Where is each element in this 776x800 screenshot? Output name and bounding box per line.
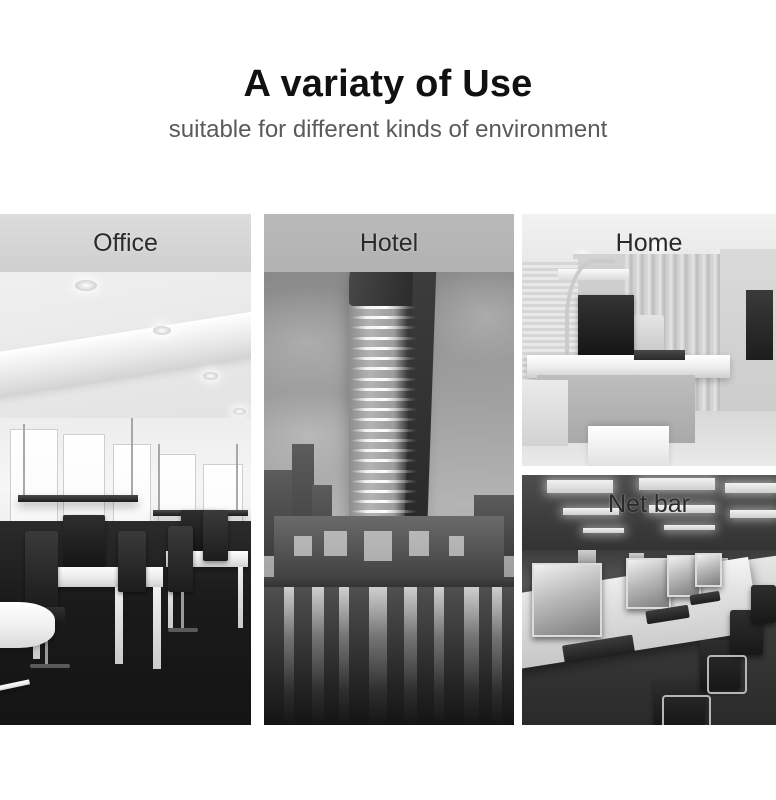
tower-balcony xyxy=(352,306,417,309)
tower-balcony xyxy=(352,449,417,452)
light-reflection xyxy=(369,587,387,725)
tower-balcony xyxy=(352,347,417,350)
tower-balcony xyxy=(352,500,417,503)
tower-balcony xyxy=(352,459,417,462)
office-desk-leg xyxy=(153,587,161,669)
home-bench xyxy=(588,426,669,466)
water-surface xyxy=(264,587,514,725)
office-chair-base xyxy=(168,628,198,632)
office-chair xyxy=(118,531,146,592)
light-reflection xyxy=(434,587,444,725)
gallery-panel-hotel[interactable]: Hotel xyxy=(264,214,514,725)
office-monitor xyxy=(63,515,106,566)
light-reflection xyxy=(464,587,479,725)
podium-window xyxy=(409,531,429,557)
use-case-gallery: Office xyxy=(0,214,776,725)
page-header: A variaty of Use suitable for different … xyxy=(0,0,776,145)
office-scene-image xyxy=(0,214,251,725)
home-cabinet xyxy=(522,380,568,446)
tower-balcony xyxy=(352,439,417,442)
light-reflection xyxy=(339,587,349,725)
hotel-scene-image xyxy=(264,214,514,725)
tower-balcony xyxy=(352,378,417,381)
pendant-light-fixture xyxy=(18,495,138,502)
gallery-panel-home[interactable]: Home xyxy=(522,214,776,466)
tower-balcony xyxy=(352,367,417,370)
panel-label-hotel: Hotel xyxy=(264,214,514,272)
office-chair xyxy=(25,531,58,608)
home-tv xyxy=(746,290,774,361)
podium-window xyxy=(364,531,392,562)
pendant-light-wire xyxy=(158,444,160,516)
panel-label-net-bar: Net bar xyxy=(522,475,776,533)
pendant-light-wire xyxy=(236,444,238,516)
pendant-light-wire xyxy=(23,424,25,501)
light-reflection xyxy=(312,587,325,725)
light-reflection xyxy=(284,587,294,725)
pendant-light-wire xyxy=(131,418,133,500)
podium-window xyxy=(294,536,312,556)
tower-balcony xyxy=(352,316,417,319)
page-subtitle: suitable for different kinds of environm… xyxy=(0,115,776,145)
office-chair-post xyxy=(181,592,184,628)
office-chair xyxy=(168,526,193,592)
light-reflection xyxy=(492,587,502,725)
net-bar-chair-frame xyxy=(707,655,747,694)
panel-label-home: Home xyxy=(522,214,776,272)
net-bar-chair xyxy=(751,585,776,623)
podium-window xyxy=(324,531,347,557)
gallery-panel-office[interactable]: Office xyxy=(0,214,251,725)
office-chair-base xyxy=(30,664,70,668)
tower-balcony xyxy=(352,480,417,483)
podium-window xyxy=(449,536,464,556)
tower-balcony xyxy=(352,408,417,411)
tower-balcony xyxy=(352,490,417,493)
page-title: A variaty of Use xyxy=(0,62,776,106)
home-keyboard xyxy=(634,350,685,360)
tower-balcony xyxy=(352,470,417,473)
net-bar-monitor xyxy=(626,558,671,610)
gallery-panel-net-bar[interactable]: Net bar xyxy=(522,475,776,725)
light-reflection xyxy=(404,587,417,725)
tower-balcony xyxy=(352,337,417,340)
net-bar-monitor xyxy=(695,553,722,587)
tower-balcony xyxy=(352,357,417,360)
home-chair xyxy=(629,315,665,355)
home-monitor xyxy=(578,295,634,358)
tower-balcony xyxy=(352,388,417,391)
tower-balcony xyxy=(352,429,417,432)
panel-label-office: Office xyxy=(0,214,251,272)
net-bar-monitor xyxy=(532,563,602,637)
net-bar-chair-frame xyxy=(662,695,712,725)
office-chair xyxy=(203,510,228,561)
office-desk-leg xyxy=(238,567,243,628)
tower-balcony xyxy=(352,398,417,401)
office-desk-leg xyxy=(115,587,123,664)
